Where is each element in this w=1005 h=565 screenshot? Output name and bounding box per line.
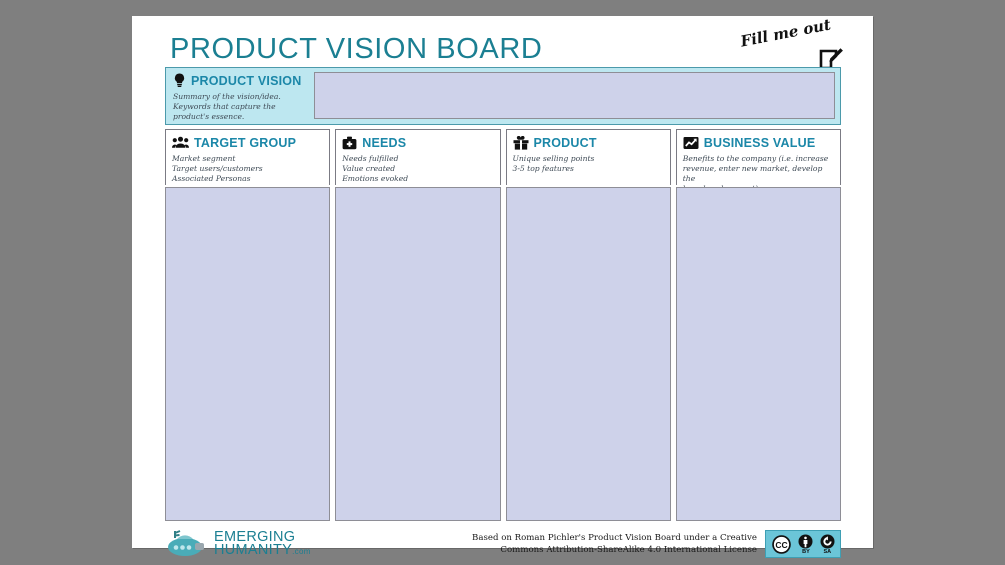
gift-box-icon: [513, 136, 529, 150]
target-group-head-row: TARGET GROUP: [172, 134, 323, 151]
needs-title: NEEDS: [362, 136, 406, 150]
logo-line-2: HUMANITY.com: [214, 544, 311, 558]
needs-subtitle: Needs fulfilled Value created Emotions e…: [342, 154, 493, 184]
users-group-icon: [172, 136, 189, 149]
product-head-row: PRODUCT: [513, 134, 664, 151]
product-vision-title: PRODUCT VISION: [191, 74, 301, 88]
board-columns: TARGET GROUP Market segment Target users…: [165, 129, 841, 521]
product-input[interactable]: [506, 187, 671, 521]
business-value-head-row: BUSINESS VALUE: [683, 134, 834, 151]
business-value-sub-line: revenue, enter new market, develop the: [683, 164, 834, 184]
product-subtitle: Unique selling points 3-5 top features: [513, 154, 664, 174]
target-group-title: TARGET GROUP: [194, 136, 296, 150]
board-page: PRODUCT VISION BOARD Fill me out PRODU: [132, 16, 873, 548]
cc-by-label: BY: [802, 549, 810, 555]
business-value-input[interactable]: [676, 187, 841, 521]
needs-sub-line: Value created: [342, 164, 493, 174]
logo-line-2-main: HUMANITY: [214, 542, 292, 558]
target-group-sub-line: Market segment: [172, 154, 323, 164]
fill-me-out-label: Fill me out: [739, 15, 832, 50]
attribution-line-2: Commons Attribution-ShareAlike 4.0 Inter…: [472, 544, 757, 556]
column-product: PRODUCT Unique selling points 3-5 top fe…: [506, 129, 671, 521]
logo-dotcom: .com: [292, 547, 311, 556]
board-footer: EMERGING HUMANITY.com Based on Roman Pic…: [165, 524, 841, 564]
svg-text:CC: CC: [776, 540, 788, 550]
emerging-humanity-logo[interactable]: EMERGING HUMANITY.com: [165, 529, 311, 559]
submarine-icon: [165, 529, 207, 559]
attribution-line-1: Based on Roman Pichler's Product Vision …: [472, 532, 757, 544]
needs-sub-line: Emotions evoked: [342, 174, 493, 184]
lightbulb-icon: [173, 73, 186, 88]
product-vision-head-row: PRODUCT VISION: [173, 72, 308, 89]
product-vision-subtitle: Summary of the vision/idea. Keywords tha…: [173, 92, 308, 122]
column-needs: NEEDS Needs fulfilled Value created Emot…: [335, 129, 500, 521]
first-aid-kit-icon: [342, 136, 357, 150]
cc-by-sa-badge[interactable]: CC BY SA: [765, 530, 841, 558]
target-group-header: TARGET GROUP Market segment Target users…: [165, 129, 330, 185]
cc-sa-label: SA: [823, 549, 831, 555]
target-group-sub-line: Target users/customers: [172, 164, 323, 174]
needs-header: NEEDS Needs fulfilled Value created Emot…: [335, 129, 500, 185]
column-target-group: TARGET GROUP Market segment Target users…: [165, 129, 330, 521]
cc-sa-mark: SA: [820, 534, 835, 555]
product-title: PRODUCT: [534, 136, 597, 150]
target-group-sub-line: Associated Personas: [172, 174, 323, 184]
cc-logo-mark: CC: [771, 534, 792, 555]
needs-sub-line: Needs fulfilled: [342, 154, 493, 164]
needs-input[interactable]: [335, 187, 500, 521]
product-sub-line: Unique selling points: [513, 154, 664, 164]
page-title: PRODUCT VISION BOARD: [170, 33, 542, 66]
attribution-text: Based on Roman Pichler's Product Vision …: [472, 532, 757, 556]
logo-text: EMERGING HUMANITY.com: [214, 531, 311, 558]
business-value-sub-line: Benefits to the company (i.e. increase: [683, 154, 834, 164]
business-value-title: BUSINESS VALUE: [704, 136, 816, 150]
chart-growth-icon: [683, 136, 699, 150]
target-group-subtitle: Market segment Target users/customers As…: [172, 154, 323, 184]
needs-head-row: NEEDS: [342, 134, 493, 151]
target-group-input[interactable]: [165, 187, 330, 521]
business-value-header: BUSINESS VALUE Benefits to the company (…: [676, 129, 841, 185]
product-vision-header: PRODUCT VISION Summary of the vision/ide…: [166, 68, 314, 124]
column-business-value: BUSINESS VALUE Benefits to the company (…: [676, 129, 841, 521]
product-vision-panel: PRODUCT VISION Summary of the vision/ide…: [165, 67, 841, 125]
product-header: PRODUCT Unique selling points 3-5 top fe…: [506, 129, 671, 185]
cc-by-mark: BY: [798, 534, 813, 555]
product-vision-input[interactable]: [314, 72, 835, 119]
product-sub-line: 3-5 top features: [513, 164, 664, 174]
